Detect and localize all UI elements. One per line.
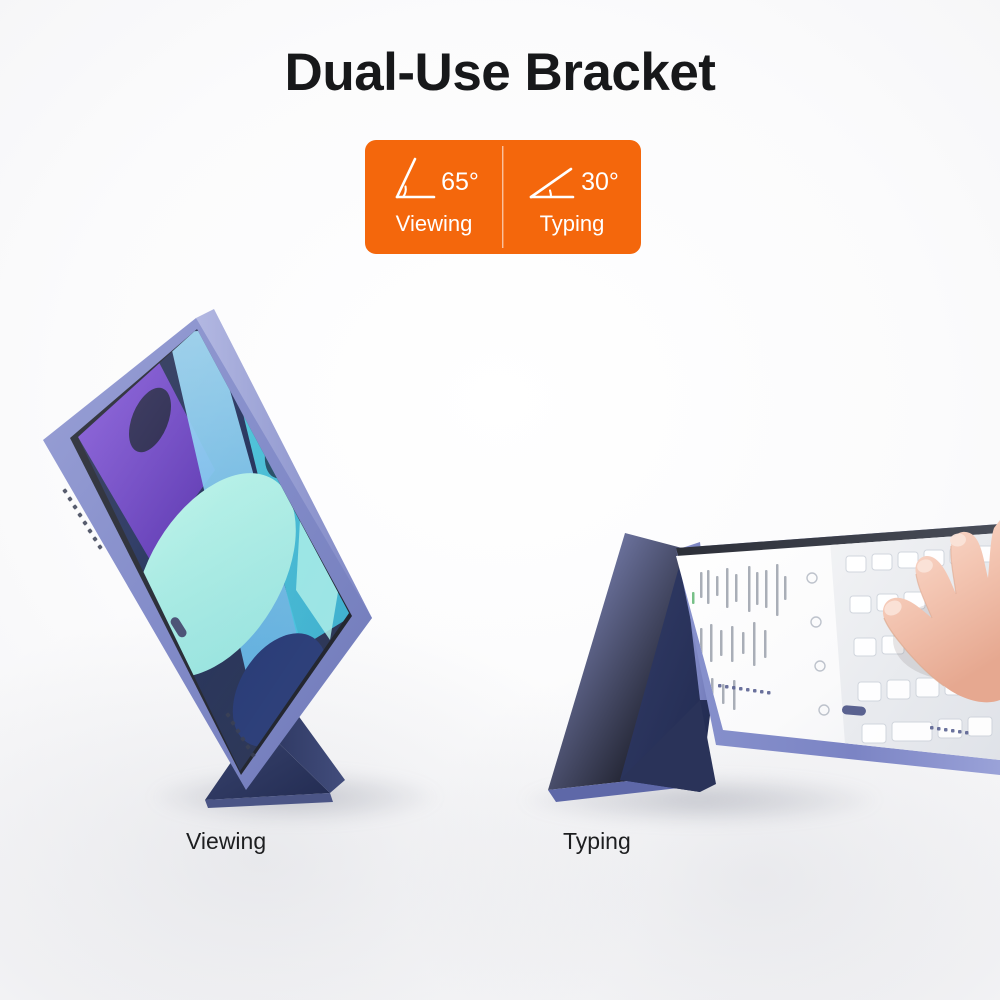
tablet-typing-photo	[0, 0, 1000, 1000]
product-feature-image: Dual-Use Bracket 65° Viewing	[0, 0, 1000, 1000]
caption-typing: Typing	[563, 828, 631, 855]
product-photo-stage: Viewing	[0, 0, 1000, 1000]
